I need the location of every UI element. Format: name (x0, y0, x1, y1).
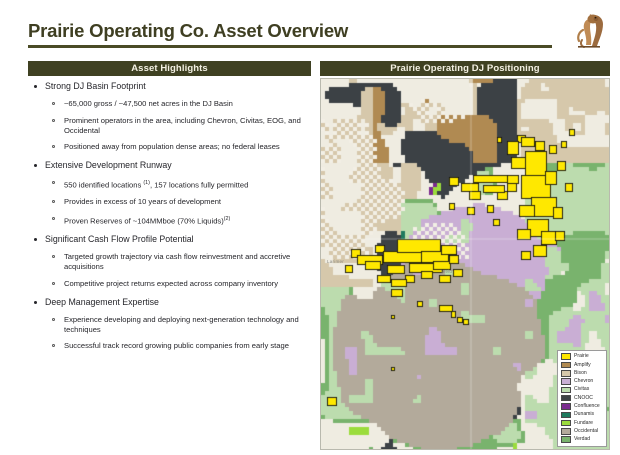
bullet-ring-icon (52, 181, 55, 184)
bullet-ring-icon (52, 255, 55, 258)
bullet-ring-icon (52, 318, 55, 321)
highlight-sub-text-pre: Proven Reserves of ~104MMboe (70% Liquid… (64, 216, 224, 225)
legend-label: Bison (574, 370, 587, 377)
legend-swatch (561, 436, 571, 443)
asset-highlights-list: Strong DJ Basin Footprint ~65,000 gross … (28, 81, 313, 351)
legend-swatch (561, 420, 571, 427)
bullet-ring-icon (52, 282, 55, 285)
bullet-ring-icon (52, 145, 55, 148)
legend-row: Prairie (561, 353, 603, 361)
title-underline-rule (28, 45, 552, 48)
legend-label: CNOOC (574, 395, 593, 402)
legend-row: Chevron (561, 378, 603, 386)
title-block: Prairie Operating Co. Asset Overview (28, 20, 552, 48)
footnote-ref-2: (2) (224, 216, 231, 222)
map-place-label: Weld (441, 269, 452, 274)
section-header-left-label: Asset Highlights (131, 63, 208, 74)
highlight-sub-text: Experience developing and deploying next… (64, 315, 299, 334)
highlight-sub-text: Prominent operators in the area, includi… (64, 116, 301, 135)
legend-swatch (561, 353, 571, 360)
highlight-sub-item: Prominent operators in the area, includi… (28, 116, 313, 136)
legend-label: Civitas (574, 386, 589, 393)
highlight-sub-item: Targeted growth trajectory via cash flow… (28, 252, 313, 272)
highlight-sub-text-pre: 550 identified locations (64, 181, 143, 190)
prairie-dog-logo-icon (566, 10, 610, 52)
legend-label: Occidental (574, 428, 598, 435)
legend-swatch (561, 403, 571, 410)
highlight-group-title: Strong DJ Basin Footprint (28, 81, 313, 93)
highlight-title-text: Strong DJ Basin Footprint (45, 81, 146, 91)
dj-positioning-map[interactable]: LarimerWeld PrairieAmplifyBisonChevronCi… (320, 78, 610, 450)
highlight-title-text: Extensive Development Runway (45, 160, 172, 170)
legend-label: Prairie (574, 353, 589, 360)
highlight-sub-item: ~65,000 gross / ~47,500 net acres in the… (28, 99, 313, 109)
highlight-sub-text-post: , 157 locations fully permitted (150, 181, 248, 190)
bullet-dot-icon (34, 301, 37, 304)
highlight-sub-item: Provides in excess of 10 years of develo… (28, 197, 313, 207)
legend-row: Verdad (561, 436, 603, 444)
legend-swatch (561, 370, 571, 377)
highlight-sub-item: Positioned away from population dense ar… (28, 142, 313, 152)
page-title: Prairie Operating Co. Asset Overview (28, 20, 552, 42)
highlight-sub-item: Experience developing and deploying next… (28, 315, 313, 335)
bullet-ring-icon (52, 217, 55, 220)
legend-row: Fundare (561, 419, 603, 427)
legend-swatch (561, 412, 571, 419)
legend-label: Verdad (574, 436, 590, 443)
highlight-group-title: Extensive Development Runway (28, 160, 313, 172)
highlight-group-title: Deep Management Expertise (28, 297, 313, 309)
legend-row: Occidental (561, 427, 603, 435)
highlight-sub-text: Positioned away from population dense ar… (64, 142, 280, 151)
bullet-dot-icon (34, 238, 37, 241)
bullet-dot-icon (34, 85, 37, 88)
highlight-sub-item: 550 identified locations (1), 157 locati… (28, 178, 313, 191)
highlight-sub-item: Proven Reserves of ~104MMboe (70% Liquid… (28, 214, 313, 227)
legend-label: Amplify (574, 362, 591, 369)
legend-row: Amplify (561, 361, 603, 369)
legend-label: Fundare (574, 420, 593, 427)
highlight-sub-text: Targeted growth trajectory via cash flow… (64, 252, 290, 271)
legend-label: Chevron (574, 378, 593, 385)
highlight-sub-text: Competitive project returns expected acr… (64, 279, 278, 288)
footnote-ref-1: (1) (143, 180, 150, 186)
bullet-dot-icon (34, 164, 37, 167)
map-legend: PrairieAmplifyBisonChevronCivitasCNOOCCo… (557, 350, 607, 447)
highlight-sub-item: Successful track record growing public c… (28, 341, 313, 351)
highlight-sub-text: ~65,000 gross / ~47,500 net acres in the… (64, 99, 233, 108)
highlight-sub-item: Competitive project returns expected acr… (28, 279, 313, 289)
section-header-dj-positioning: Prairie Operating DJ Positioning (320, 61, 610, 76)
map-place-label: Larimer (327, 259, 344, 264)
legend-swatch (561, 362, 571, 369)
legend-row: CNOOC (561, 394, 603, 402)
legend-label: Confluence (574, 403, 600, 410)
bullet-ring-icon (52, 344, 55, 347)
bullet-ring-icon (52, 200, 55, 203)
bullet-ring-icon (52, 102, 55, 105)
legend-row: Civitas (561, 386, 603, 394)
legend-row: Bison (561, 369, 603, 377)
legend-row: Dunamis (561, 411, 603, 419)
legend-swatch (561, 428, 571, 435)
highlight-title-text: Significant Cash Flow Profile Potential (45, 234, 194, 244)
section-header-right-label: Prairie Operating DJ Positioning (390, 63, 539, 74)
legend-swatch (561, 395, 571, 402)
slide-root: Prairie Operating Co. Asset Overview Ass… (0, 0, 620, 455)
highlight-group-title: Significant Cash Flow Profile Potential (28, 234, 313, 246)
highlight-sub-text: Provides in excess of 10 years of develo… (64, 197, 221, 206)
legend-swatch (561, 387, 571, 394)
legend-swatch (561, 378, 571, 385)
section-header-asset-highlights: Asset Highlights (28, 61, 311, 76)
bullet-ring-icon (52, 119, 55, 122)
legend-row: Confluence (561, 403, 603, 411)
highlight-sub-text: Successful track record growing public c… (64, 341, 289, 350)
highlight-title-text: Deep Management Expertise (45, 297, 159, 307)
legend-label: Dunamis (574, 411, 594, 418)
